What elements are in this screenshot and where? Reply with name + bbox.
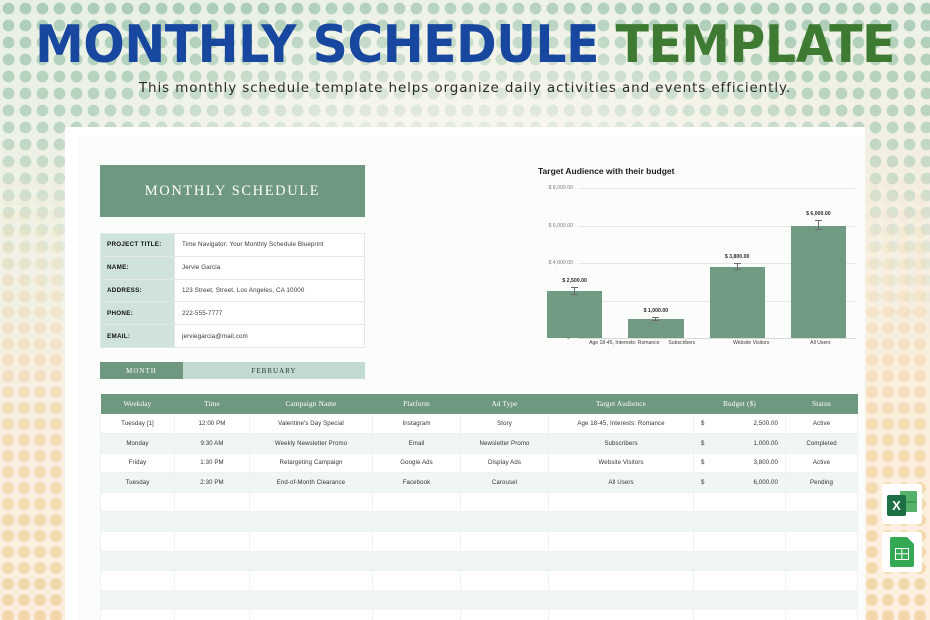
cell-ad-type[interactable]: Carousel	[461, 473, 549, 493]
cell-empty[interactable]	[461, 532, 549, 552]
cell-campaign[interactable]: Retargeting Campaign	[250, 453, 373, 473]
cell-empty[interactable]	[549, 590, 694, 610]
cell-platform[interactable]: Instagram	[373, 414, 461, 434]
chart-bar[interactable]	[791, 226, 846, 339]
cell-empty[interactable]	[786, 590, 858, 610]
cell-empty[interactable]	[373, 492, 461, 512]
budget-bar-chart: Target Audience with their budget $ 8,00…	[534, 166, 859, 366]
table-row-empty[interactable]	[101, 492, 858, 512]
cell-empty[interactable]	[250, 590, 373, 610]
cell-empty[interactable]	[101, 532, 175, 552]
chart-error-cap	[652, 317, 659, 318]
cell-empty[interactable]	[373, 610, 461, 620]
cell-empty[interactable]	[101, 551, 175, 571]
column-header-ad-type[interactable]: Ad Type	[461, 394, 549, 414]
cell-weekday[interactable]: Monday	[101, 434, 175, 454]
status-badge[interactable]: Active	[786, 453, 858, 473]
cell-audience[interactable]: Subscribers	[549, 434, 694, 454]
schedule-table: Weekday Time Campaign Name Platform Ad T…	[100, 394, 858, 620]
cell-time[interactable]: 12:00 PM	[175, 414, 250, 434]
info-value-project-title[interactable]: Time Navigator: Your Monthly Schedule Bl…	[175, 234, 365, 257]
table-row-empty[interactable]	[101, 590, 858, 610]
month-value[interactable]: FEBRUARY	[183, 362, 365, 379]
cell-audience[interactable]: Website Visitors	[549, 453, 694, 473]
column-header-platform[interactable]: Platform	[373, 394, 461, 414]
chart-error-cap	[652, 320, 659, 321]
cell-empty[interactable]	[101, 492, 175, 512]
cell-empty[interactable]	[461, 610, 549, 620]
page-subtitle: This monthly schedule template helps org…	[0, 80, 930, 96]
column-header-weekday[interactable]: Weekday	[101, 394, 175, 414]
excel-icon[interactable]: X	[882, 484, 922, 524]
column-header-budget[interactable]: Budget ($)	[694, 394, 786, 414]
chart-bar-slot: $ 1,000.00	[628, 188, 683, 338]
cell-empty[interactable]	[373, 551, 461, 571]
cell-platform[interactable]: Google Ads	[373, 453, 461, 473]
budget-currency-symbol: $	[701, 440, 705, 447]
cell-empty[interactable]	[250, 512, 373, 532]
chart-bar-value-label: $ 1,000.00	[644, 308, 669, 314]
month-label: MONTH	[100, 362, 183, 379]
page-title-secondary: TEMPLATE	[616, 15, 895, 75]
schedule-table-head: Weekday Time Campaign Name Platform Ad T…	[101, 394, 858, 414]
column-header-status[interactable]: Status	[786, 394, 858, 414]
chart-x-tick-label: All Users	[797, 340, 844, 346]
cell-empty[interactable]	[694, 590, 786, 610]
cell-ad-type[interactable]: Newsletter Promo	[461, 434, 549, 454]
table-row-empty[interactable]	[101, 571, 858, 591]
cell-empty[interactable]	[786, 492, 858, 512]
template-page: MONTHLY SCHEDULE TEMPLATE This monthly s…	[0, 0, 930, 620]
chart-error-cap	[571, 294, 578, 295]
cell-empty[interactable]	[250, 571, 373, 591]
info-label-address: ADDRESS:	[101, 279, 175, 302]
cell-empty[interactable]	[786, 532, 858, 552]
page-title-primary: MONTHLY SCHEDULE	[35, 15, 599, 75]
chart-title: Target Audience with their budget	[538, 166, 859, 176]
table-row-empty[interactable]	[101, 551, 858, 571]
cell-weekday[interactable]: Tuesday	[101, 473, 175, 493]
cell-empty[interactable]	[786, 571, 858, 591]
cell-empty[interactable]	[694, 610, 786, 620]
chart-plot-area: $ 8,000.00$ 6,000.00$ 4,000.00$ 2,000.00…	[534, 188, 859, 360]
cell-empty[interactable]	[175, 492, 250, 512]
chart-bar-value-label: $ 6,000.00	[806, 211, 831, 217]
schedule-table-body: Tuesday [1]12:00 PMValentine's Day Speci…	[101, 414, 858, 620]
project-info-body: PROJECT TITLE: Time Navigator: Your Mont…	[101, 234, 365, 348]
cell-empty[interactable]	[694, 532, 786, 552]
cell-empty[interactable]	[101, 590, 175, 610]
cell-empty[interactable]	[694, 551, 786, 571]
cell-empty[interactable]	[101, 610, 175, 620]
chart-bar[interactable]	[710, 267, 765, 338]
chart-bar-slot: $ 3,800.00	[710, 188, 765, 338]
cell-empty[interactable]	[461, 492, 549, 512]
cell-empty[interactable]	[694, 512, 786, 532]
cell-empty[interactable]	[175, 512, 250, 532]
chart-bar[interactable]	[547, 291, 602, 338]
cell-empty[interactable]	[694, 492, 786, 512]
cell-empty[interactable]	[250, 532, 373, 552]
cell-time[interactable]: 1:30 PM	[175, 453, 250, 473]
column-header-target-audience[interactable]: Target Audience	[549, 394, 694, 414]
chart-x-tick-label: Website Visitors	[728, 340, 775, 346]
cell-budget[interactable]: $6,000.00	[694, 473, 786, 493]
cell-empty[interactable]	[786, 610, 858, 620]
cell-empty[interactable]	[461, 551, 549, 571]
budget-amount: 6,000.00	[701, 479, 778, 486]
export-app-icons: X	[882, 484, 922, 572]
table-row[interactable]: Monday9:30 AMWeekly Newsletter PromoEmai…	[101, 434, 858, 454]
cell-empty[interactable]	[549, 512, 694, 532]
google-sheets-glyph	[890, 537, 914, 567]
cell-campaign[interactable]: End-of-Month Clearance	[250, 473, 373, 493]
cell-empty[interactable]	[461, 512, 549, 532]
info-row-address: ADDRESS: 123 Street, Street, Los Angeles…	[101, 279, 365, 302]
cell-audience[interactable]: All Users	[549, 473, 694, 493]
info-label-email: EMAIL:	[101, 325, 175, 348]
chart-bar-slot: $ 2,500.00	[547, 188, 602, 338]
cell-empty[interactable]	[175, 610, 250, 620]
info-row-phone: PHONE: 222-555-7777	[101, 302, 365, 325]
page-title: MONTHLY SCHEDULE TEMPLATE	[28, 18, 902, 72]
chart-error-cap	[734, 263, 741, 264]
info-label-phone: PHONE:	[101, 302, 175, 325]
cell-empty[interactable]	[175, 590, 250, 610]
table-row[interactable]: Tuesday2:30 PMEnd-of-Month ClearanceFace…	[101, 473, 858, 493]
info-row-project-title: PROJECT TITLE: Time Navigator: Your Mont…	[101, 234, 365, 257]
cell-empty[interactable]	[461, 571, 549, 591]
column-header-campaign-name[interactable]: Campaign Name	[250, 394, 373, 414]
info-row-name: NAME: Jervie Garcia	[101, 256, 365, 279]
cell-empty[interactable]	[373, 532, 461, 552]
info-label-project-title: PROJECT TITLE:	[101, 234, 175, 257]
cell-empty[interactable]	[694, 571, 786, 591]
cell-weekday[interactable]: Tuesday [1]	[101, 414, 175, 434]
schedule-header-row: Weekday Time Campaign Name Platform Ad T…	[101, 394, 858, 414]
budget-currency-symbol: $	[701, 420, 705, 427]
sheet-inner-surface: MONTHLY SCHEDULE PROJECT TITLE: Time Nav…	[78, 136, 865, 620]
cell-empty[interactable]	[250, 551, 373, 571]
info-row-email: EMAIL: jerviegarcia@mail.com	[101, 325, 365, 348]
chart-x-axis-labels: Age 18-45, Interests: RomanceSubscribers…	[578, 340, 855, 346]
chart-error-cap	[815, 229, 822, 230]
chart-axis-baseline	[578, 338, 855, 339]
cell-empty[interactable]	[549, 532, 694, 552]
cell-empty[interactable]	[250, 610, 373, 620]
cell-empty[interactable]	[786, 551, 858, 571]
chart-error-cap	[571, 287, 578, 288]
project-info-table: PROJECT TITLE: Time Navigator: Your Mont…	[100, 233, 365, 348]
cell-ad-type[interactable]: Story	[461, 414, 549, 434]
info-value-email[interactable]: jerviegarcia@mail.com	[175, 325, 365, 348]
cell-platform[interactable]: Email	[373, 434, 461, 454]
cell-time[interactable]: 9:30 AM	[175, 434, 250, 454]
cell-empty[interactable]	[101, 571, 175, 591]
cell-platform[interactable]: Facebook	[373, 473, 461, 493]
google-sheets-grid	[895, 548, 909, 560]
chart-bar[interactable]	[628, 319, 683, 338]
chart-bar-value-label: $ 3,800.00	[725, 254, 750, 260]
chart-bars: $ 2,500.00$ 1,000.00$ 3,800.00$ 6,000.00	[534, 188, 859, 338]
cell-empty[interactable]	[461, 590, 549, 610]
schedule-banner-label: MONTHLY SCHEDULE	[145, 183, 320, 200]
cell-empty[interactable]	[373, 512, 461, 532]
excel-letter-x: X	[887, 495, 906, 516]
cell-empty[interactable]	[786, 512, 858, 532]
cell-empty[interactable]	[549, 571, 694, 591]
info-value-address[interactable]: 123 Street, Street, Los Angeles, CA 1000…	[175, 279, 365, 302]
cell-empty[interactable]	[549, 610, 694, 620]
cell-audience[interactable]: Age 18-45, Interests: Romance	[549, 414, 694, 434]
chart-x-tick-label: Age 18-45, Interests: Romance	[589, 340, 636, 346]
status-badge[interactable]: Pending	[786, 473, 858, 493]
cell-campaign[interactable]: Valentine's Day Special	[250, 414, 373, 434]
table-row-empty[interactable]	[101, 532, 858, 552]
chart-bar-slot: $ 6,000.00	[791, 188, 846, 338]
cell-empty[interactable]	[175, 532, 250, 552]
table-row[interactable]: Tuesday [1]12:00 PMValentine's Day Speci…	[101, 414, 858, 434]
cell-empty[interactable]	[175, 571, 250, 591]
cell-empty[interactable]	[373, 590, 461, 610]
budget-currency-symbol: $	[701, 459, 705, 466]
cell-empty[interactable]	[250, 492, 373, 512]
chart-x-tick-label: Subscribers	[658, 340, 705, 346]
cell-time[interactable]: 2:30 PM	[175, 473, 250, 493]
cell-budget[interactable]: $2,500.00	[694, 414, 786, 434]
google-sheets-icon[interactable]	[882, 532, 922, 572]
budget-amount: 2,500.00	[701, 420, 778, 427]
cell-empty[interactable]	[549, 551, 694, 571]
chart-bar-value-label: $ 2,500.00	[562, 278, 587, 284]
cell-empty[interactable]	[175, 551, 250, 571]
table-row-empty[interactable]	[101, 512, 858, 532]
month-selector-row: MONTH FEBRUARY	[100, 362, 365, 379]
info-label-name: NAME:	[101, 256, 175, 279]
budget-amount: 3,800.00	[701, 459, 778, 466]
budget-amount: 1,000.00	[701, 440, 778, 447]
chart-error-cap	[734, 269, 741, 270]
cell-budget[interactable]: $3,800.00	[694, 453, 786, 473]
budget-currency-symbol: $	[701, 479, 705, 486]
chart-error-cap	[815, 220, 822, 221]
cell-budget[interactable]: $1,000.00	[694, 434, 786, 454]
status-badge[interactable]: Completed	[786, 434, 858, 454]
cell-ad-type[interactable]: Display Ads	[461, 453, 549, 473]
excel-glyph: X	[887, 491, 917, 518]
column-header-time[interactable]: Time	[175, 394, 250, 414]
document-sheet: MONTHLY SCHEDULE PROJECT TITLE: Time Nav…	[65, 127, 865, 620]
status-badge[interactable]: Active	[786, 414, 858, 434]
cell-campaign[interactable]: Weekly Newsletter Promo	[250, 434, 373, 454]
schedule-banner: MONTHLY SCHEDULE	[100, 165, 365, 217]
info-value-phone[interactable]: 222-555-7777	[175, 302, 365, 325]
table-row-empty[interactable]	[101, 610, 858, 620]
page-header: MONTHLY SCHEDULE TEMPLATE This monthly s…	[0, 0, 930, 96]
cell-weekday[interactable]: Friday	[101, 453, 175, 473]
table-row[interactable]: Friday1:30 PMRetargeting CampaignGoogle …	[101, 453, 858, 473]
cell-empty[interactable]	[373, 571, 461, 591]
cell-empty[interactable]	[101, 512, 175, 532]
cell-empty[interactable]	[549, 492, 694, 512]
info-value-name[interactable]: Jervie Garcia	[175, 256, 365, 279]
